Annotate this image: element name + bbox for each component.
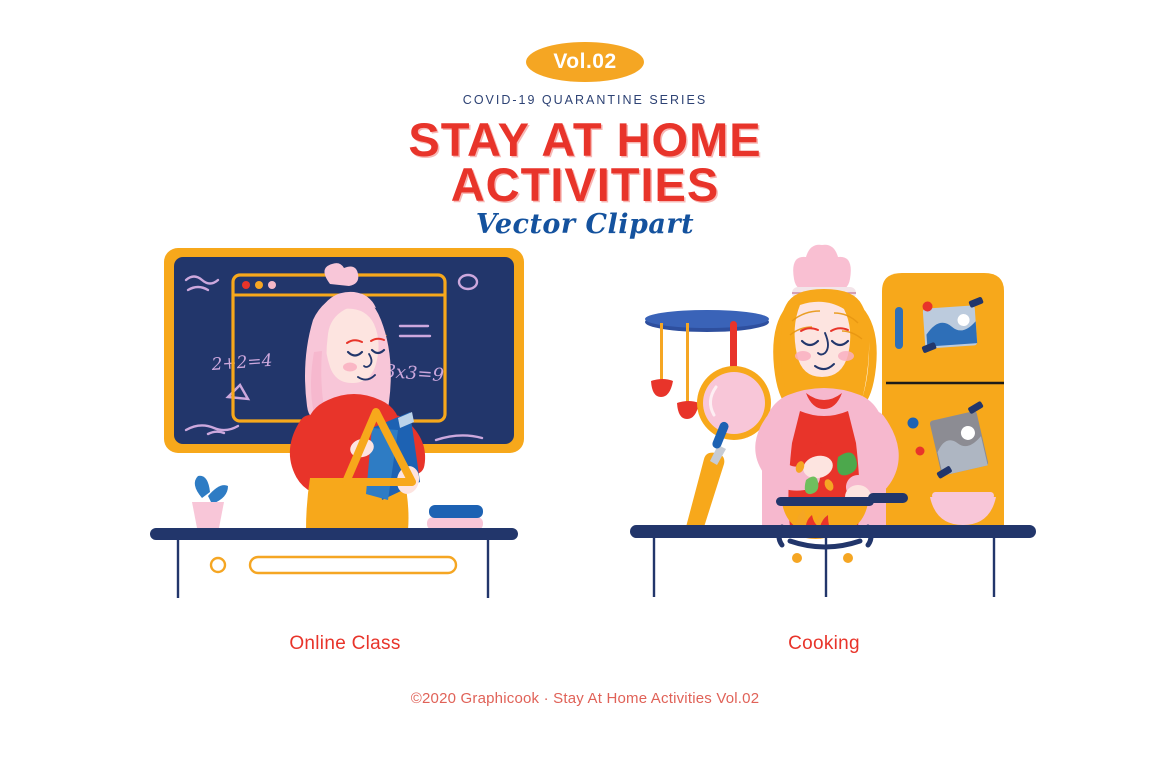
ladle-2-icon [677, 401, 699, 419]
desk [150, 528, 518, 598]
scene-cooking [630, 235, 1040, 600]
poster-header: Vol.02 COVID-19 QUARANTINE SERIES STAY A… [0, 0, 1170, 240]
kitchen-counter [630, 525, 1036, 597]
title-line-2: ACTIVITIES [0, 162, 1170, 207]
utensil-rack [645, 310, 771, 440]
caption-online-class: Online Class [195, 633, 495, 655]
browser-dot-maximize-icon [268, 281, 276, 289]
title-line-1: STAY AT HOME [0, 117, 1170, 162]
poster-canvas: Vol.02 COVID-19 QUARANTINE SERIES STAY A… [0, 0, 1170, 780]
refrigerator [882, 273, 1004, 527]
cutting-board [686, 421, 730, 527]
fridge-handle-top [895, 307, 903, 349]
pan-handle [730, 321, 737, 369]
wok-handle [868, 493, 908, 503]
caption-cooking: Cooking [674, 633, 974, 655]
volume-badge: Vol.02 [526, 42, 643, 82]
equation-right: 3x3=9 [384, 361, 445, 386]
fridge-dot-blue-icon [908, 418, 919, 429]
ladle-1-icon [651, 379, 673, 397]
browser-dot-close-icon [242, 281, 250, 289]
page-title: STAY AT HOME ACTIVITIES [0, 117, 1170, 207]
counter-knob-2-icon [843, 553, 853, 563]
browser-dot-minimize-icon [255, 281, 263, 289]
counter-knob-1-icon [792, 553, 802, 563]
footer-copyright: ©2020 Graphicook · Stay At Home Activiti… [0, 690, 1170, 707]
desk-plant [192, 476, 228, 528]
fridge-dot-red-icon [916, 447, 925, 456]
drawer-handle [250, 557, 456, 573]
scene-online-class: 2+2=4 3x3=9 [150, 240, 550, 600]
book-stack [427, 505, 483, 530]
series-subtitle: COVID-19 QUARANTINE SERIES [0, 93, 1170, 107]
drawer-knob-icon [211, 558, 225, 572]
chef-character [762, 245, 887, 527]
